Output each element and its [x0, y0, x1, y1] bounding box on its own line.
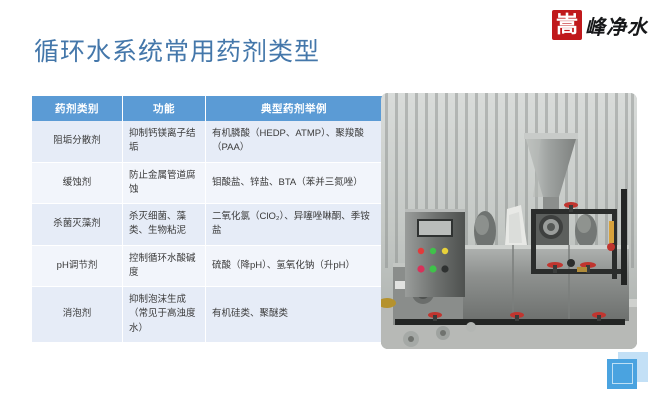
brand-wordmark: 峰净水	[585, 11, 648, 40]
column-header-examples: 典型药剂举例	[206, 96, 383, 121]
cell-category: 缓蚀剂	[32, 162, 123, 204]
table-row: 杀菌灭藻剂 杀灭细菌、藻类、生物粘泥 二氧化氯（ClO₂）、异噻唑啉酮、季铵盐	[32, 204, 382, 246]
cell-function: 防止金属管道腐蚀	[123, 162, 206, 204]
cell-function: 抑制泡沫生成（常见于高浊度水）	[123, 287, 206, 343]
cell-examples: 二氧化氯（ClO₂）、异噻唑啉酮、季铵盐	[206, 204, 383, 246]
page-title: 循环水系统常用药剂类型	[34, 32, 320, 68]
deco-square-inner-outline	[612, 363, 633, 384]
cell-category: 阻垢分散剂	[32, 121, 123, 162]
cell-examples: 硫酸（降pH）、氢氧化钠（升pH）	[206, 245, 383, 287]
cell-examples: 钼酸盐、锌盐、BTA（苯并三氮唑）	[206, 162, 383, 204]
table-row: 消泡剂 抑制泡沫生成（常见于高浊度水） 有机硅类、聚醚类	[32, 287, 382, 343]
chemical-types-table: 药剂类别 功能 典型药剂举例 阻垢分散剂 抑制钙镁离子结垢 有机膦酸（HEDP、…	[32, 96, 362, 343]
cell-function: 抑制钙镁离子结垢	[123, 121, 206, 162]
column-header-function: 功能	[123, 96, 206, 121]
cell-category: 消泡剂	[32, 287, 123, 343]
cell-category: pH调节剂	[32, 245, 123, 287]
table-row: 缓蚀剂 防止金属管道腐蚀 钼酸盐、锌盐、BTA（苯并三氮唑）	[32, 162, 382, 204]
equipment-photo-illustration	[381, 93, 637, 349]
cell-examples: 有机膦酸（HEDP、ATMP）、聚羧酸（PAA）	[206, 121, 383, 162]
cell-category: 杀菌灭藻剂	[32, 204, 123, 246]
table-row: pH调节剂 控制循环水酸碱度 硫酸（降pH）、氢氧化钠（升pH）	[32, 245, 382, 287]
column-header-category: 药剂类别	[32, 96, 123, 121]
seal-icon: 嵩	[552, 10, 582, 40]
table-row: 阻垢分散剂 抑制钙镁离子结垢 有机膦酸（HEDP、ATMP）、聚羧酸（PAA）	[32, 121, 382, 162]
cell-function: 控制循环水酸碱度	[123, 245, 206, 287]
cell-examples: 有机硅类、聚醚类	[206, 287, 383, 343]
table-header-row: 药剂类别 功能 典型药剂举例	[32, 96, 382, 121]
equipment-photo	[381, 93, 637, 349]
blue-squares-decoration	[604, 352, 650, 392]
cell-function: 杀灭细菌、藻类、生物粘泥	[123, 204, 206, 246]
brand-logo: 嵩 峰净水	[552, 8, 648, 42]
